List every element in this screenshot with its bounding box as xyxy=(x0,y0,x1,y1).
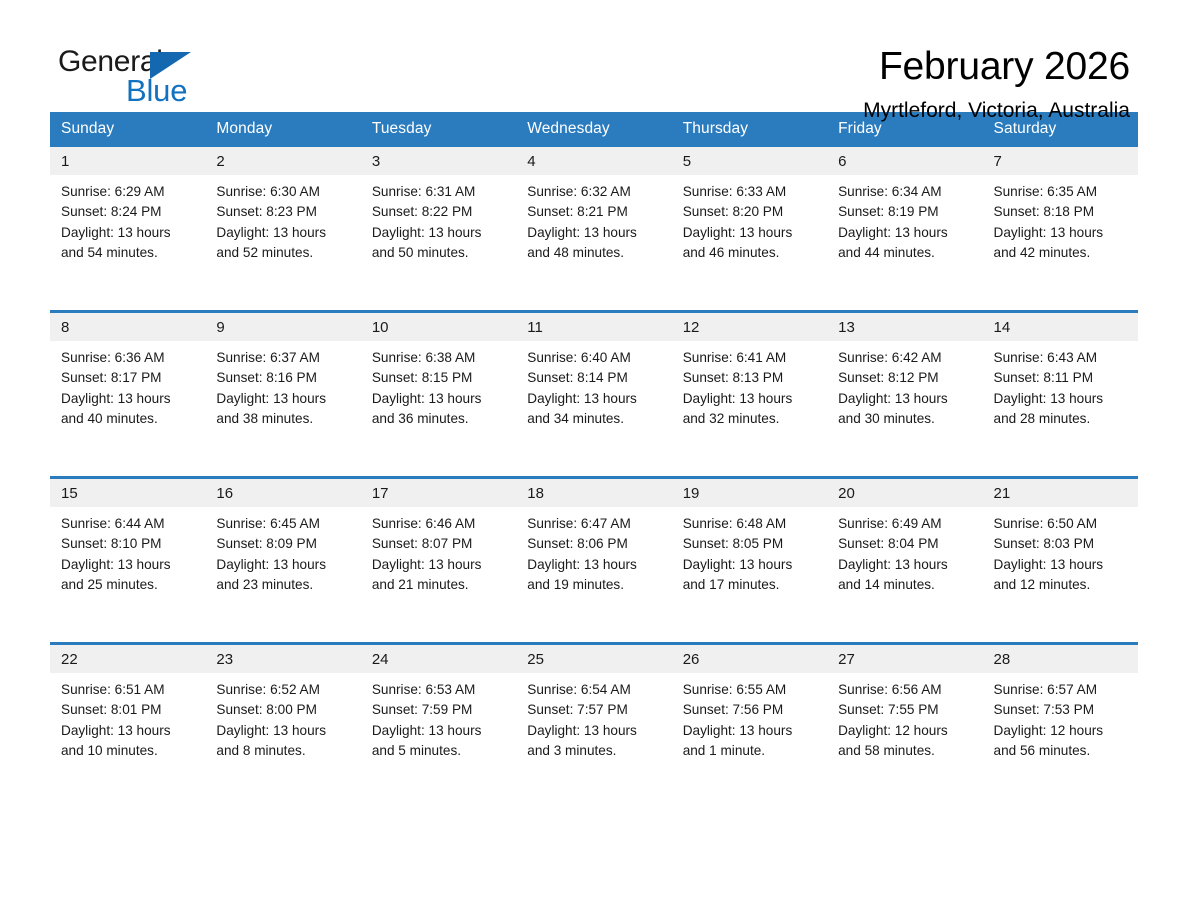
sunset-text: Sunset: 8:22 PM xyxy=(372,202,506,222)
daylight-text-line1: Daylight: 13 hours xyxy=(683,555,817,575)
day-number[interactable]: 2 xyxy=(205,147,360,175)
daylight-text-line2: and 48 minutes. xyxy=(527,243,661,263)
day-number[interactable]: 7 xyxy=(983,147,1138,175)
sunset-text: Sunset: 8:04 PM xyxy=(838,534,972,554)
daylight-text-line1: Daylight: 13 hours xyxy=(372,721,506,741)
day-cell[interactable]: Sunrise: 6:42 AM Sunset: 8:12 PM Dayligh… xyxy=(827,341,982,478)
daylight-text-line1: Daylight: 13 hours xyxy=(372,223,506,243)
daylight-text-line1: Daylight: 13 hours xyxy=(838,389,972,409)
daylight-text-line1: Daylight: 13 hours xyxy=(994,389,1128,409)
day-cell[interactable]: Sunrise: 6:40 AM Sunset: 8:14 PM Dayligh… xyxy=(516,341,671,478)
week-2-detail-row: Sunrise: 6:36 AM Sunset: 8:17 PM Dayligh… xyxy=(50,341,1138,478)
day-cell[interactable]: Sunrise: 6:29 AM Sunset: 8:24 PM Dayligh… xyxy=(50,175,205,312)
daylight-text-line1: Daylight: 13 hours xyxy=(683,721,817,741)
daylight-text-line2: and 38 minutes. xyxy=(216,409,350,429)
daylight-text-line1: Daylight: 13 hours xyxy=(683,223,817,243)
sunset-text: Sunset: 7:55 PM xyxy=(838,700,972,720)
daylight-text-line2: and 10 minutes. xyxy=(61,741,195,761)
daylight-text-line2: and 46 minutes. xyxy=(683,243,817,263)
day-cell[interactable]: Sunrise: 6:34 AM Sunset: 8:19 PM Dayligh… xyxy=(827,175,982,312)
daylight-text-line2: and 56 minutes. xyxy=(994,741,1128,761)
logo-text-blue: Blue xyxy=(126,74,187,107)
day-number[interactable]: 15 xyxy=(50,478,205,508)
day-number[interactable]: 10 xyxy=(361,312,516,342)
day-cell[interactable]: Sunrise: 6:33 AM Sunset: 8:20 PM Dayligh… xyxy=(672,175,827,312)
sunset-text: Sunset: 8:15 PM xyxy=(372,368,506,388)
day-cell[interactable]: Sunrise: 6:57 AM Sunset: 7:53 PM Dayligh… xyxy=(983,673,1138,800)
sunrise-sunset-calendar: Sunday Monday Tuesday Wednesday Thursday… xyxy=(50,112,1138,800)
daylight-text-line1: Daylight: 13 hours xyxy=(527,721,661,741)
day-number[interactable]: 23 xyxy=(205,644,360,674)
daylight-text-line2: and 58 minutes. xyxy=(838,741,972,761)
sunrise-text: Sunrise: 6:52 AM xyxy=(216,680,350,700)
week-4-daynum-row: 22 23 24 25 26 27 28 xyxy=(50,644,1138,674)
daylight-text-line2: and 8 minutes. xyxy=(216,741,350,761)
sunset-text: Sunset: 8:00 PM xyxy=(216,700,350,720)
calendar-page: General Blue February 2026 Myrtleford, V… xyxy=(0,0,1188,918)
daylight-text-line2: and 44 minutes. xyxy=(838,243,972,263)
day-number[interactable]: 25 xyxy=(516,644,671,674)
generalblue-logo[interactable]: General Blue xyxy=(50,44,200,114)
day-cell[interactable]: Sunrise: 6:38 AM Sunset: 8:15 PM Dayligh… xyxy=(361,341,516,478)
day-number[interactable]: 1 xyxy=(50,147,205,175)
title-block: February 2026 Myrtleford, Victoria, Aust… xyxy=(200,44,1138,126)
sunset-text: Sunset: 8:09 PM xyxy=(216,534,350,554)
daylight-text-line1: Daylight: 13 hours xyxy=(527,223,661,243)
day-number[interactable]: 26 xyxy=(672,644,827,674)
sunrise-text: Sunrise: 6:43 AM xyxy=(994,348,1128,368)
day-cell[interactable]: Sunrise: 6:55 AM Sunset: 7:56 PM Dayligh… xyxy=(672,673,827,800)
sunrise-text: Sunrise: 6:54 AM xyxy=(527,680,661,700)
sunrise-text: Sunrise: 6:57 AM xyxy=(994,680,1128,700)
sunrise-text: Sunrise: 6:50 AM xyxy=(994,514,1128,534)
week-1-detail-row: Sunrise: 6:29 AM Sunset: 8:24 PM Dayligh… xyxy=(50,175,1138,312)
sunrise-text: Sunrise: 6:45 AM xyxy=(216,514,350,534)
daylight-text-line2: and 32 minutes. xyxy=(683,409,817,429)
sunrise-text: Sunrise: 6:35 AM xyxy=(994,182,1128,202)
daylight-text-line1: Daylight: 13 hours xyxy=(527,555,661,575)
sunset-text: Sunset: 8:16 PM xyxy=(216,368,350,388)
day-cell[interactable]: Sunrise: 6:31 AM Sunset: 8:22 PM Dayligh… xyxy=(361,175,516,312)
daylight-text-line2: and 52 minutes. xyxy=(216,243,350,263)
sunrise-text: Sunrise: 6:38 AM xyxy=(372,348,506,368)
daylight-text-line1: Daylight: 13 hours xyxy=(61,721,195,741)
day-cell[interactable]: Sunrise: 6:47 AM Sunset: 8:06 PM Dayligh… xyxy=(516,507,671,644)
daylight-text-line1: Daylight: 13 hours xyxy=(61,389,195,409)
sunset-text: Sunset: 7:59 PM xyxy=(372,700,506,720)
day-cell[interactable]: Sunrise: 6:48 AM Sunset: 8:05 PM Dayligh… xyxy=(672,507,827,644)
daylight-text-line2: and 12 minutes. xyxy=(994,575,1128,595)
sunset-text: Sunset: 8:06 PM xyxy=(527,534,661,554)
daylight-text-line2: and 36 minutes. xyxy=(372,409,506,429)
sunrise-text: Sunrise: 6:33 AM xyxy=(683,182,817,202)
daylight-text-line1: Daylight: 13 hours xyxy=(61,555,195,575)
daylight-text-line2: and 40 minutes. xyxy=(61,409,195,429)
day-cell[interactable]: Sunrise: 6:35 AM Sunset: 8:18 PM Dayligh… xyxy=(983,175,1138,312)
day-cell[interactable]: Sunrise: 6:30 AM Sunset: 8:23 PM Dayligh… xyxy=(205,175,360,312)
sunrise-text: Sunrise: 6:40 AM xyxy=(527,348,661,368)
day-cell[interactable]: Sunrise: 6:44 AM Sunset: 8:10 PM Dayligh… xyxy=(50,507,205,644)
day-number[interactable]: 21 xyxy=(983,478,1138,508)
day-number[interactable]: 22 xyxy=(50,644,205,674)
daylight-text-line1: Daylight: 13 hours xyxy=(216,555,350,575)
day-cell[interactable]: Sunrise: 6:46 AM Sunset: 8:07 PM Dayligh… xyxy=(361,507,516,644)
sunrise-text: Sunrise: 6:30 AM xyxy=(216,182,350,202)
daylight-text-line2: and 14 minutes. xyxy=(838,575,972,595)
daylight-text-line2: and 3 minutes. xyxy=(527,741,661,761)
daylight-text-line1: Daylight: 13 hours xyxy=(838,223,972,243)
sunset-text: Sunset: 8:12 PM xyxy=(838,368,972,388)
day-number[interactable]: 27 xyxy=(827,644,982,674)
daylight-text-line2: and 42 minutes. xyxy=(994,243,1128,263)
day-cell[interactable]: Sunrise: 6:56 AM Sunset: 7:55 PM Dayligh… xyxy=(827,673,982,800)
daylight-text-line1: Daylight: 13 hours xyxy=(216,223,350,243)
sunrise-text: Sunrise: 6:44 AM xyxy=(61,514,195,534)
daylight-text-line2: and 19 minutes. xyxy=(527,575,661,595)
sunrise-text: Sunrise: 6:31 AM xyxy=(372,182,506,202)
day-number[interactable]: 18 xyxy=(516,478,671,508)
daylight-text-line2: and 25 minutes. xyxy=(61,575,195,595)
daylight-text-line2: and 28 minutes. xyxy=(994,409,1128,429)
sunrise-text: Sunrise: 6:47 AM xyxy=(527,514,661,534)
daylight-text-line1: Daylight: 13 hours xyxy=(216,389,350,409)
sunset-text: Sunset: 8:10 PM xyxy=(61,534,195,554)
sunrise-text: Sunrise: 6:36 AM xyxy=(61,348,195,368)
week-3-daynum-row: 15 16 17 18 19 20 21 xyxy=(50,478,1138,508)
sunset-text: Sunset: 7:53 PM xyxy=(994,700,1128,720)
sunrise-text: Sunrise: 6:48 AM xyxy=(683,514,817,534)
page-title: February 2026 xyxy=(200,44,1130,90)
page-subtitle: Myrtleford, Victoria, Australia xyxy=(200,96,1130,126)
day-cell[interactable]: Sunrise: 6:53 AM Sunset: 7:59 PM Dayligh… xyxy=(361,673,516,800)
day-cell[interactable]: Sunrise: 6:49 AM Sunset: 8:04 PM Dayligh… xyxy=(827,507,982,644)
day-cell[interactable]: Sunrise: 6:43 AM Sunset: 8:11 PM Dayligh… xyxy=(983,341,1138,478)
day-number[interactable]: 12 xyxy=(672,312,827,342)
sunset-text: Sunset: 8:19 PM xyxy=(838,202,972,222)
sunset-text: Sunset: 8:03 PM xyxy=(994,534,1128,554)
sunset-text: Sunset: 7:57 PM xyxy=(527,700,661,720)
sunset-text: Sunset: 8:07 PM xyxy=(372,534,506,554)
day-number[interactable]: 17 xyxy=(361,478,516,508)
daylight-text-line2: and 1 minute. xyxy=(683,741,817,761)
daylight-text-line1: Daylight: 13 hours xyxy=(838,555,972,575)
week-1-daynum-row: 1 2 3 4 5 6 7 xyxy=(50,147,1138,175)
day-number[interactable]: 11 xyxy=(516,312,671,342)
sunset-text: Sunset: 8:14 PM xyxy=(527,368,661,388)
day-number[interactable]: 19 xyxy=(672,478,827,508)
sunrise-text: Sunrise: 6:51 AM xyxy=(61,680,195,700)
sunset-text: Sunset: 8:24 PM xyxy=(61,202,195,222)
day-number[interactable]: 24 xyxy=(361,644,516,674)
sunrise-text: Sunrise: 6:49 AM xyxy=(838,514,972,534)
sunrise-text: Sunrise: 6:55 AM xyxy=(683,680,817,700)
daylight-text-line2: and 17 minutes. xyxy=(683,575,817,595)
day-cell[interactable]: Sunrise: 6:36 AM Sunset: 8:17 PM Dayligh… xyxy=(50,341,205,478)
sunrise-text: Sunrise: 6:34 AM xyxy=(838,182,972,202)
day-cell[interactable]: Sunrise: 6:54 AM Sunset: 7:57 PM Dayligh… xyxy=(516,673,671,800)
day-cell[interactable]: Sunrise: 6:52 AM Sunset: 8:00 PM Dayligh… xyxy=(205,673,360,800)
daylight-text-line1: Daylight: 13 hours xyxy=(372,555,506,575)
sunrise-text: Sunrise: 6:46 AM xyxy=(372,514,506,534)
sunrise-text: Sunrise: 6:29 AM xyxy=(61,182,195,202)
day-number[interactable]: 14 xyxy=(983,312,1138,342)
day-cell[interactable]: Sunrise: 6:32 AM Sunset: 8:21 PM Dayligh… xyxy=(516,175,671,312)
daylight-text-line1: Daylight: 12 hours xyxy=(838,721,972,741)
daylight-text-line1: Daylight: 13 hours xyxy=(61,223,195,243)
daylight-text-line2: and 5 minutes. xyxy=(372,741,506,761)
daylight-text-line1: Daylight: 13 hours xyxy=(372,389,506,409)
day-number[interactable]: 20 xyxy=(827,478,982,508)
day-number[interactable]: 5 xyxy=(672,147,827,175)
daylight-text-line1: Daylight: 13 hours xyxy=(994,223,1128,243)
sunrise-text: Sunrise: 6:42 AM xyxy=(838,348,972,368)
daylight-text-line1: Daylight: 13 hours xyxy=(527,389,661,409)
day-number[interactable]: 6 xyxy=(827,147,982,175)
sunset-text: Sunset: 8:17 PM xyxy=(61,368,195,388)
day-cell[interactable]: Sunrise: 6:37 AM Sunset: 8:16 PM Dayligh… xyxy=(205,341,360,478)
week-4-detail-row: Sunrise: 6:51 AM Sunset: 8:01 PM Dayligh… xyxy=(50,673,1138,800)
daylight-text-line2: and 30 minutes. xyxy=(838,409,972,429)
sunset-text: Sunset: 8:18 PM xyxy=(994,202,1128,222)
daylight-text-line1: Daylight: 12 hours xyxy=(994,721,1128,741)
daylight-text-line1: Daylight: 13 hours xyxy=(216,721,350,741)
sunset-text: Sunset: 8:11 PM xyxy=(994,368,1128,388)
sunset-text: Sunset: 8:21 PM xyxy=(527,202,661,222)
sunset-text: Sunset: 8:01 PM xyxy=(61,700,195,720)
day-number[interactable]: 16 xyxy=(205,478,360,508)
week-2-daynum-row: 8 9 10 11 12 13 14 xyxy=(50,312,1138,342)
daylight-text-line2: and 54 minutes. xyxy=(61,243,195,263)
day-number[interactable]: 28 xyxy=(983,644,1138,674)
sunset-text: Sunset: 7:56 PM xyxy=(683,700,817,720)
day-number[interactable]: 3 xyxy=(361,147,516,175)
day-number[interactable]: 13 xyxy=(827,312,982,342)
daylight-text-line2: and 50 minutes. xyxy=(372,243,506,263)
daylight-text-line2: and 23 minutes. xyxy=(216,575,350,595)
sunrise-text: Sunrise: 6:41 AM xyxy=(683,348,817,368)
sunset-text: Sunset: 8:05 PM xyxy=(683,534,817,554)
day-cell[interactable]: Sunrise: 6:50 AM Sunset: 8:03 PM Dayligh… xyxy=(983,507,1138,644)
daylight-text-line1: Daylight: 13 hours xyxy=(683,389,817,409)
sunrise-text: Sunrise: 6:56 AM xyxy=(838,680,972,700)
day-cell[interactable]: Sunrise: 6:41 AM Sunset: 8:13 PM Dayligh… xyxy=(672,341,827,478)
day-number[interactable]: 4 xyxy=(516,147,671,175)
daylight-text-line2: and 21 minutes. xyxy=(372,575,506,595)
sunset-text: Sunset: 8:13 PM xyxy=(683,368,817,388)
sunrise-text: Sunrise: 6:32 AM xyxy=(527,182,661,202)
daylight-text-line2: and 34 minutes. xyxy=(527,409,661,429)
page-header: General Blue February 2026 Myrtleford, V… xyxy=(50,0,1138,106)
sunrise-text: Sunrise: 6:53 AM xyxy=(372,680,506,700)
day-number[interactable]: 9 xyxy=(205,312,360,342)
weekday-header-sunday: Sunday xyxy=(50,112,205,147)
day-number[interactable]: 8 xyxy=(50,312,205,342)
sunrise-text: Sunrise: 6:37 AM xyxy=(216,348,350,368)
sunset-text: Sunset: 8:23 PM xyxy=(216,202,350,222)
sunset-text: Sunset: 8:20 PM xyxy=(683,202,817,222)
day-cell[interactable]: Sunrise: 6:45 AM Sunset: 8:09 PM Dayligh… xyxy=(205,507,360,644)
week-3-detail-row: Sunrise: 6:44 AM Sunset: 8:10 PM Dayligh… xyxy=(50,507,1138,644)
day-cell[interactable]: Sunrise: 6:51 AM Sunset: 8:01 PM Dayligh… xyxy=(50,673,205,800)
daylight-text-line1: Daylight: 13 hours xyxy=(994,555,1128,575)
